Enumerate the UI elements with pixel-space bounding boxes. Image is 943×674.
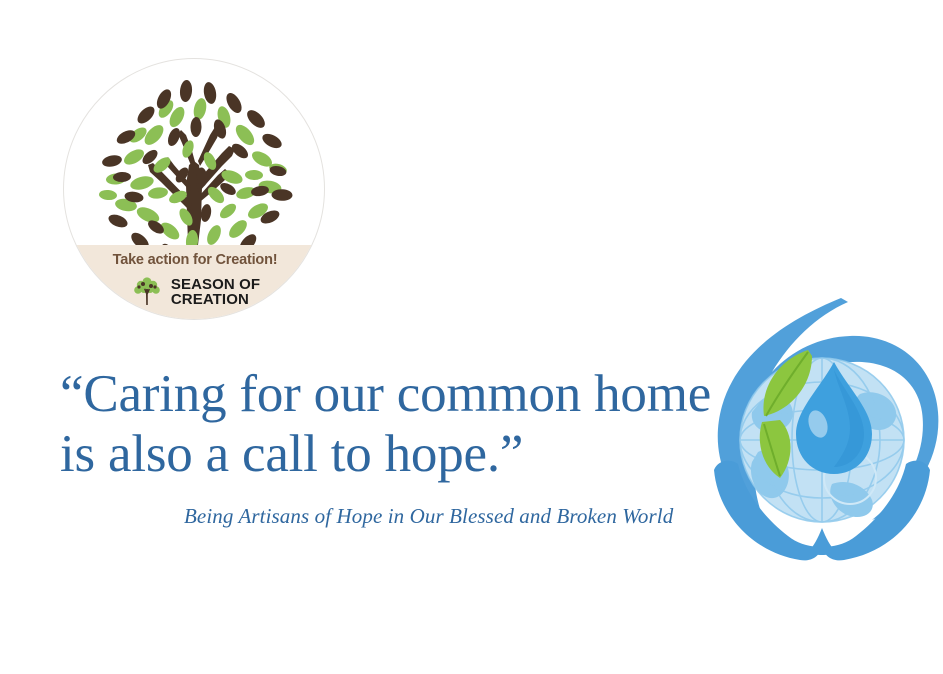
hands-globe-droplet-emblem: [700, 288, 943, 580]
wordmark-line-2: CREATION: [171, 292, 260, 307]
slide-canvas: Take action for Creation!: [0, 0, 943, 674]
badge-wordmark-text: SEASON OF CREATION: [171, 277, 260, 308]
badge-tagline: Take action for Creation!: [64, 252, 325, 268]
season-of-creation-badge: Take action for Creation!: [63, 58, 325, 320]
wordmark-line-1: SEASON OF: [171, 277, 260, 292]
mini-tree-icon: [130, 275, 164, 309]
quote-line-2: is also a call to hope.”: [60, 424, 720, 484]
quote-block: “Caring for our common home is also a ca…: [60, 364, 720, 484]
quote-subtitle: Being Artisans of Hope in Our Blessed an…: [184, 503, 673, 529]
emblem-graphic: [700, 288, 943, 580]
badge-wordmark: SEASON OF CREATION: [64, 275, 325, 309]
quote-line-1: “Caring for our common home: [60, 364, 720, 424]
